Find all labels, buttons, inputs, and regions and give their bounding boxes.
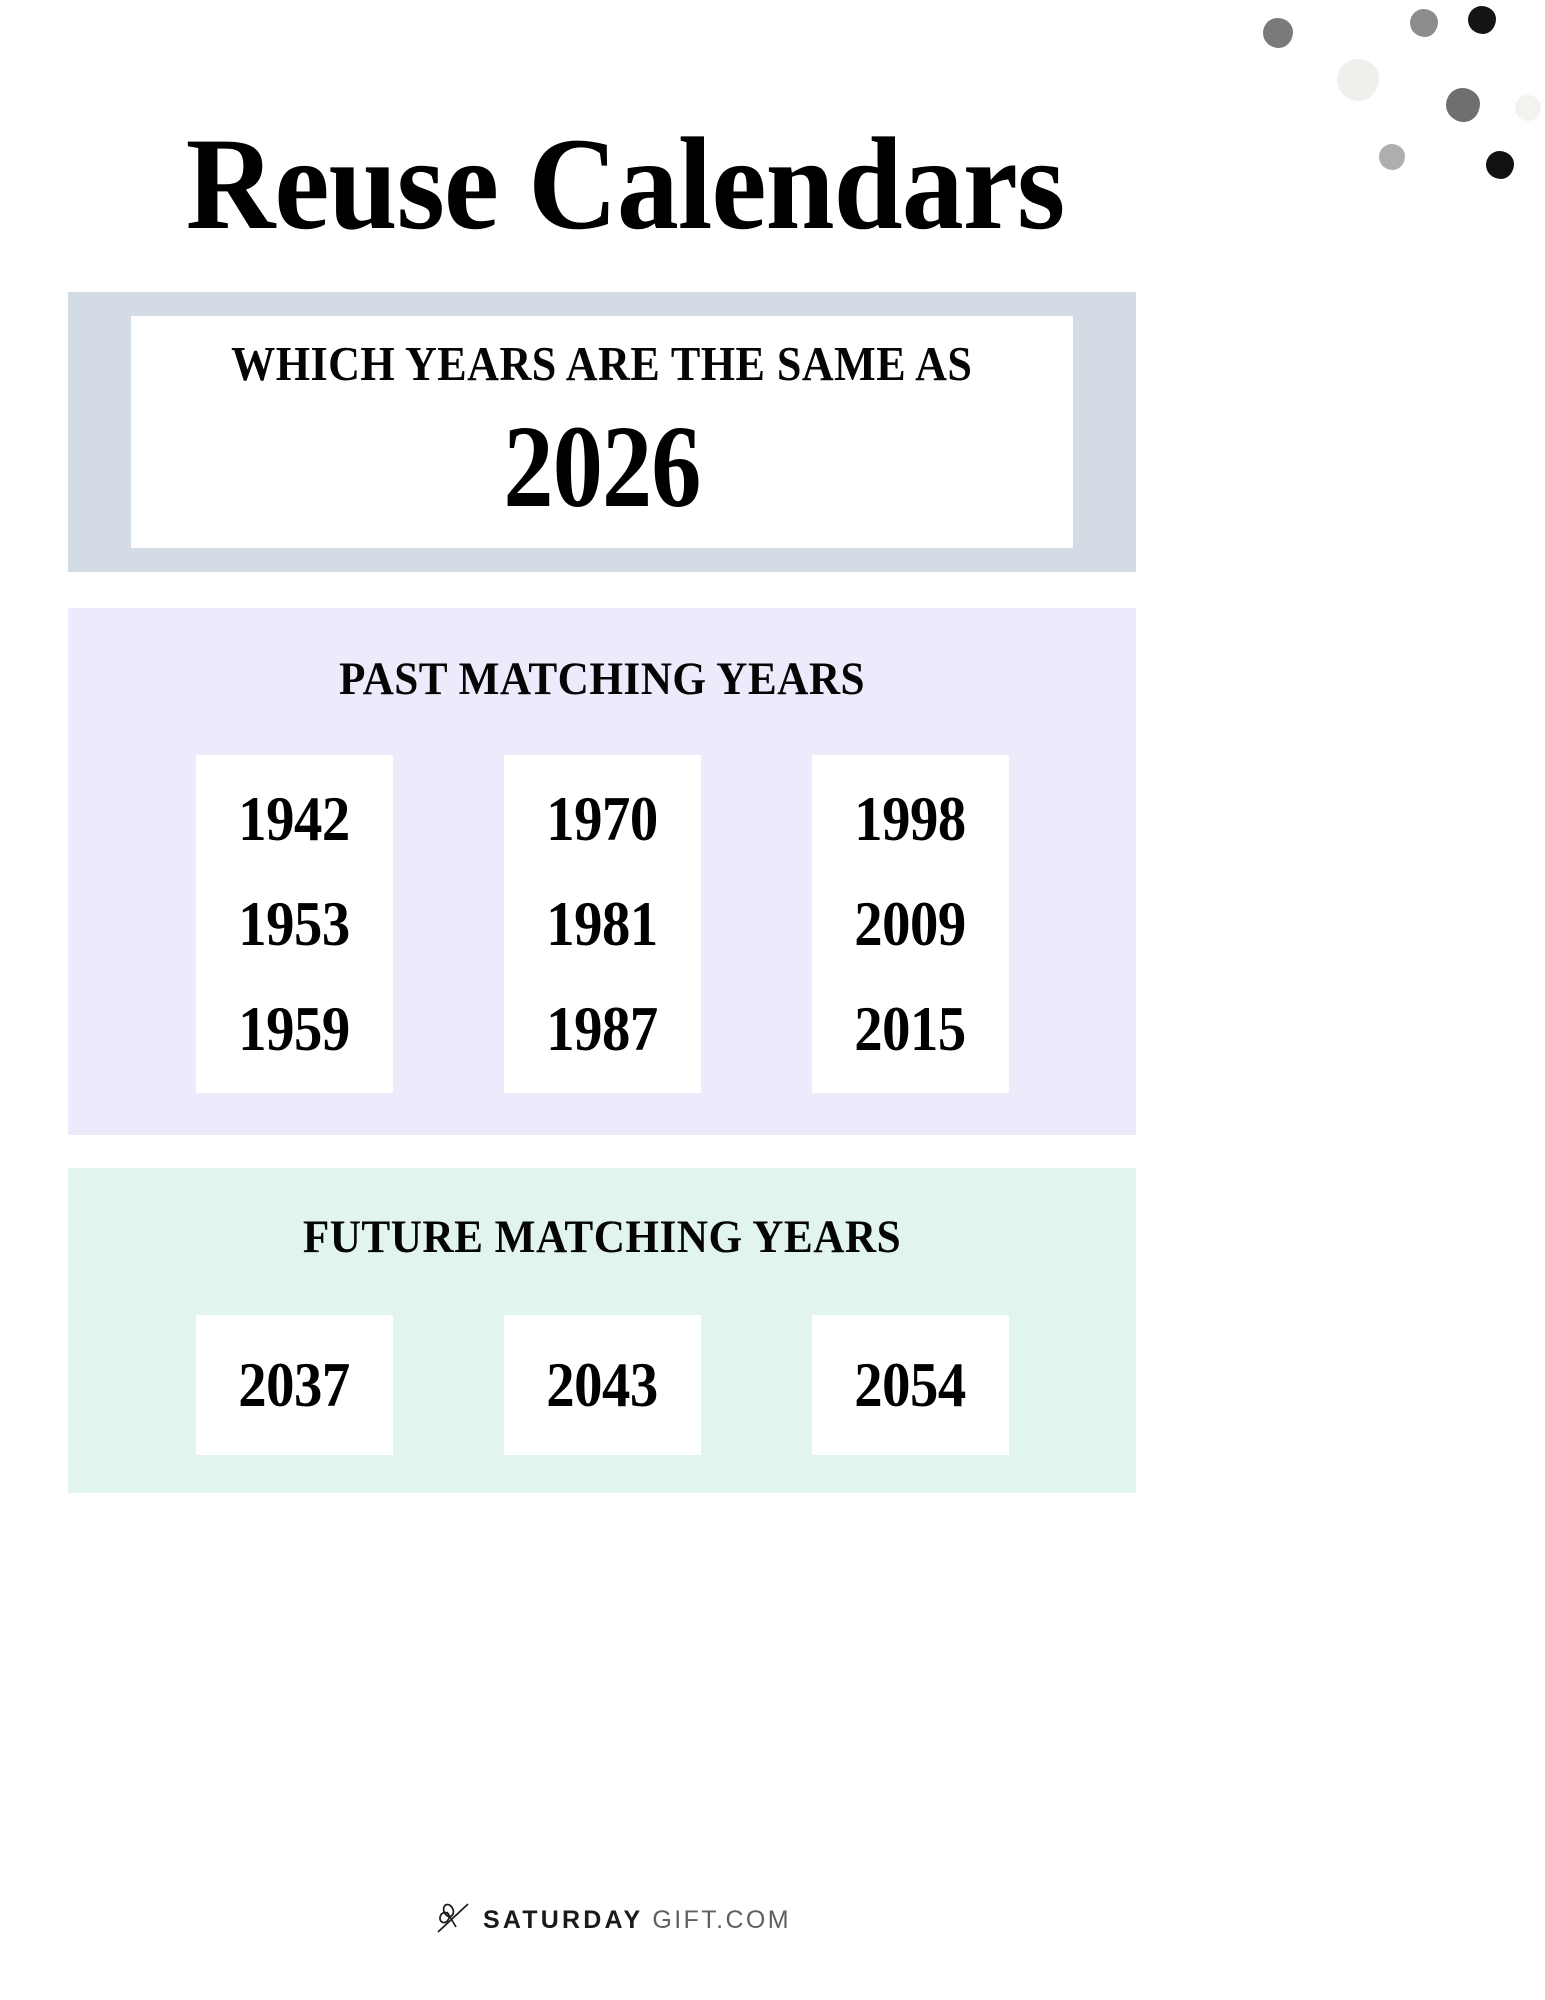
year-card: 2054 — [812, 1315, 1009, 1455]
year-value: 1953 — [238, 893, 350, 956]
confetti-dot — [1410, 9, 1438, 37]
year-value: 2043 — [546, 1354, 658, 1417]
year-value: 2009 — [854, 893, 966, 956]
year-value: 1987 — [546, 998, 658, 1061]
year-value: 1998 — [854, 788, 966, 851]
year-value: 1959 — [238, 998, 350, 1061]
year-value: 1981 — [546, 893, 658, 956]
infographic-page: Reuse Calendars WHICH YEARS ARE THE SAME… — [0, 0, 1545, 2000]
future-year-columns: 203720432054 — [68, 1315, 1136, 1455]
year-value: 2037 — [238, 1354, 350, 1417]
header-question-box: WHICH YEARS ARE THE SAME AS 2026 — [68, 292, 1136, 572]
past-section-heading: PAST MATCHING YEARS — [111, 608, 1094, 703]
page-title: Reuse Calendars — [38, 118, 1213, 250]
header-question-text: WHICH YEARS ARE THE SAME AS — [231, 339, 972, 388]
confetti-dot — [1468, 6, 1496, 34]
header-target-year: 2026 — [503, 408, 700, 526]
year-card: 197019811987 — [504, 755, 701, 1093]
confetti-dot — [1486, 151, 1514, 179]
confetti-dot — [1446, 88, 1480, 122]
future-section-heading: FUTURE MATCHING YEARS — [111, 1168, 1094, 1261]
confetti-dot — [1263, 18, 1293, 48]
year-card: 199820092015 — [812, 755, 1009, 1093]
past-matching-years-panel: PAST MATCHING YEARS 19421953195919701981… — [68, 608, 1136, 1135]
confetti-dot — [1379, 144, 1405, 170]
past-year-columns: 194219531959197019811987199820092015 — [68, 755, 1136, 1093]
year-value: 1942 — [238, 788, 350, 851]
year-value: 1970 — [546, 788, 658, 851]
year-value: 2015 — [854, 998, 966, 1061]
footer-domain-name: GIFT.COM — [652, 1906, 791, 1935]
year-value: 2054 — [854, 1354, 966, 1417]
footer-brand-name: SATURDAY — [483, 1906, 643, 1935]
confetti-dot — [1515, 95, 1541, 121]
scissors-icon — [434, 1900, 474, 1941]
header-inner-panel: WHICH YEARS ARE THE SAME AS 2026 — [131, 316, 1073, 548]
future-matching-years-panel: FUTURE MATCHING YEARS 203720432054 — [68, 1168, 1136, 1493]
year-card: 194219531959 — [196, 755, 393, 1093]
confetti-dot — [1337, 59, 1379, 101]
year-card: 2043 — [504, 1315, 701, 1455]
year-card: 2037 — [196, 1315, 393, 1455]
footer-logo: SATURDAY GIFT.COM — [0, 1900, 1225, 1941]
